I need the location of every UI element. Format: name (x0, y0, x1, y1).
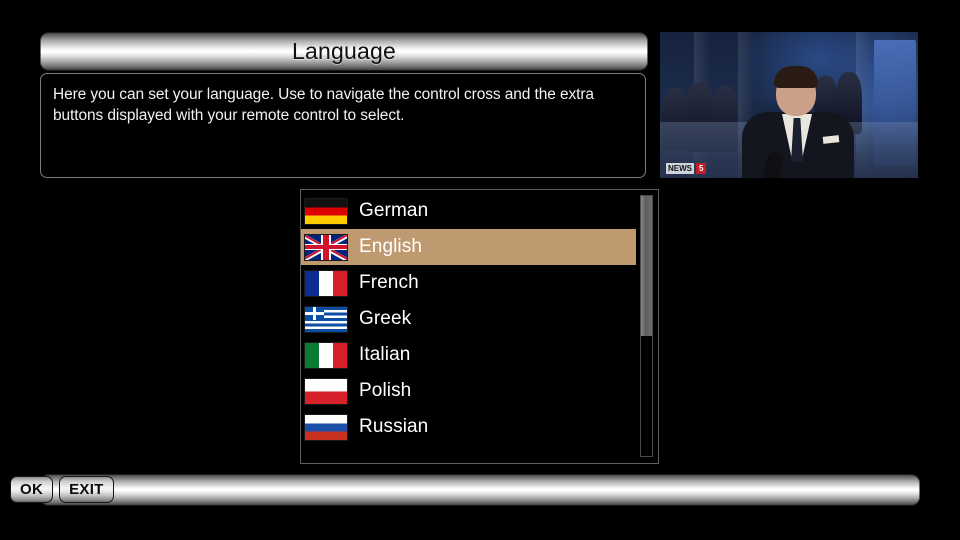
flag-gb-icon (304, 234, 348, 261)
title-bar: Language (40, 32, 648, 71)
list-scrollbar-thumb[interactable] (641, 196, 652, 336)
language-list: German English French Greek (301, 190, 636, 463)
page-title: Language (292, 38, 396, 65)
list-item[interactable]: Italian (301, 337, 636, 373)
list-item[interactable]: Russian (301, 409, 636, 445)
description-box: Here you can set your language. Use to n… (40, 73, 646, 178)
list-item-label: German (359, 200, 428, 222)
list-item[interactable]: English (301, 229, 636, 265)
flag-fr-icon (304, 270, 348, 297)
list-item[interactable]: Polish (301, 373, 636, 409)
channel-logo-mark: 5 (696, 163, 706, 174)
list-scrollbar[interactable] (640, 195, 653, 457)
video-preview[interactable]: NEWS 5 (660, 32, 918, 178)
ok-button[interactable]: OK (10, 476, 53, 503)
list-item-label: Russian (359, 416, 428, 438)
ok-button-label: OK (20, 481, 43, 498)
list-item-label: Polish (359, 380, 411, 402)
bottom-action-bar (40, 474, 920, 506)
exit-button[interactable]: EXIT (59, 476, 114, 503)
exit-button-label: EXIT (69, 481, 104, 498)
list-item-label: Greek (359, 308, 411, 330)
tv-settings-screen: Language Here you can set your language.… (0, 0, 960, 540)
flag-de-icon (304, 198, 348, 225)
channel-logo: NEWS 5 (666, 162, 706, 174)
language-list-panel[interactable]: German English French Greek (300, 189, 659, 464)
flag-ru-icon (304, 414, 348, 441)
list-item-label: English (359, 236, 422, 258)
action-buttons: OK EXIT (10, 476, 114, 503)
description-text: Here you can set your language. Use to n… (53, 84, 633, 126)
list-item[interactable]: German (301, 193, 636, 229)
channel-logo-text: NEWS (666, 163, 694, 174)
list-item[interactable]: Greek (301, 301, 636, 337)
list-item[interactable]: French (301, 265, 636, 301)
flag-gr-icon (304, 306, 348, 333)
flag-it-icon (304, 342, 348, 369)
list-item-label: Italian (359, 344, 410, 366)
video-anchor-hair (774, 66, 818, 88)
flag-pl-icon (304, 378, 348, 405)
list-item-label: French (359, 272, 419, 294)
